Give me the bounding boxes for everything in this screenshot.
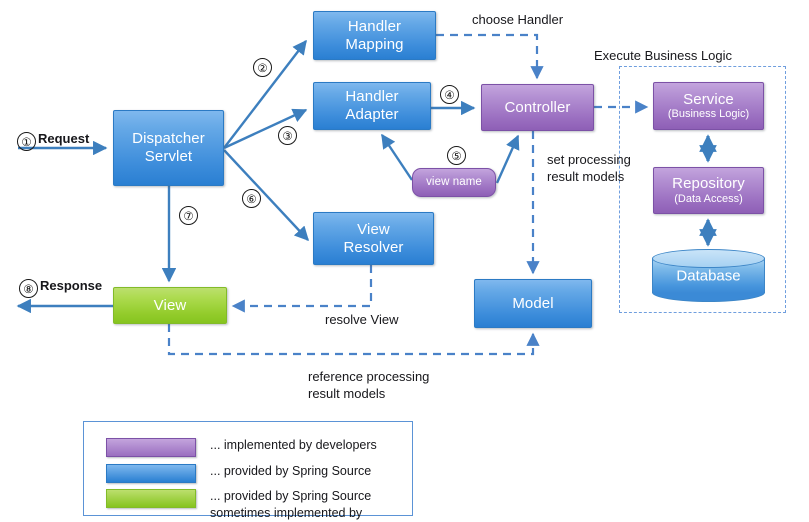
node-service[interactable]: Service (Business Logic) <box>653 82 764 130</box>
legend-panel: ... implemented by developers ... provid… <box>83 421 413 516</box>
node-handler-mapping[interactable]: Handler Mapping <box>313 11 436 60</box>
database-label: Database <box>652 267 765 284</box>
repository-label: Repository <box>672 175 745 193</box>
node-model[interactable]: Model <box>474 279 592 328</box>
node-view-name[interactable]: view name <box>412 168 496 197</box>
label-resolve-view: resolve View <box>325 312 398 329</box>
label-choose-handler: choose Handler <box>472 12 563 29</box>
legend-swatch-blue <box>106 464 196 483</box>
node-view[interactable]: View <box>113 287 227 324</box>
node-controller[interactable]: Controller <box>481 84 594 131</box>
step-marker-2: ② <box>253 58 272 77</box>
node-handler-adapter[interactable]: Handler Adapter <box>313 82 431 130</box>
legend-text-spring-source: ... provided by Spring Source <box>210 463 371 480</box>
step-marker-4: ④ <box>440 85 459 104</box>
diagram-canvas: Dispatcher Servlet Handler Mapping Handl… <box>0 0 809 522</box>
step-marker-6: ⑥ <box>242 189 261 208</box>
label-reference-processing-result-models: reference processing result models <box>308 369 429 402</box>
step-marker-7: ⑦ <box>179 206 198 225</box>
handler-adapter-label-line1: Handler <box>345 88 398 106</box>
dispatcher-servlet-label-line1: Dispatcher <box>132 130 205 148</box>
step-marker-3: ③ <box>278 126 297 145</box>
label-execute-business-logic: Execute Business Logic <box>594 48 732 65</box>
view-resolver-label-line1: View <box>357 221 390 239</box>
edge-dispatcher-viewresolver <box>224 150 308 240</box>
label-request: Request <box>38 131 89 148</box>
legend-text-developers: ... implemented by developers <box>210 437 377 454</box>
step-marker-1: ① <box>17 132 36 151</box>
step-marker-5: ⑤ <box>447 146 466 165</box>
node-repository[interactable]: Repository (Data Access) <box>653 167 764 214</box>
legend-swatch-green <box>106 489 196 508</box>
service-label: Service <box>683 91 734 109</box>
node-database[interactable]: Database <box>652 249 765 302</box>
database-cylinder-top <box>652 249 765 268</box>
edge-resolve-view <box>233 265 371 306</box>
step-marker-8: ⑧ <box>19 279 38 298</box>
view-resolver-label-line2: Resolver <box>344 239 404 257</box>
dispatcher-servlet-label-line2: Servlet <box>145 148 192 166</box>
legend-swatch-purple <box>106 438 196 457</box>
legend-row-spring-source: ... provided by Spring Source <box>106 463 371 483</box>
handler-mapping-label-line1: Handler <box>348 18 401 36</box>
legend-row-spring-source-mixed: ... provided by Spring Source sometimes … <box>106 488 412 522</box>
legend-row-developers: ... implemented by developers <box>106 437 377 457</box>
service-sublabel: (Business Logic) <box>668 108 749 121</box>
controller-label: Controller <box>504 99 570 117</box>
edge-choose-handler <box>436 35 537 78</box>
handler-adapter-label-line2: Adapter <box>345 106 398 124</box>
view-name-label: view name <box>426 176 482 190</box>
label-set-processing-result-models: set processing result models <box>547 152 631 185</box>
legend-text-spring-source-mixed: ... provided by Spring Source sometimes … <box>210 488 412 522</box>
edge-viewname-handleradapter <box>382 135 412 180</box>
repository-sublabel: (Data Access) <box>674 193 742 206</box>
edge-viewname-controller <box>497 136 518 183</box>
model-label: Model <box>512 295 553 313</box>
label-response: Response <box>40 278 102 295</box>
view-label: View <box>154 297 187 315</box>
node-dispatcher-servlet[interactable]: Dispatcher Servlet <box>113 110 224 186</box>
handler-mapping-label-line2: Mapping <box>345 36 403 54</box>
node-view-resolver[interactable]: View Resolver <box>313 212 434 265</box>
